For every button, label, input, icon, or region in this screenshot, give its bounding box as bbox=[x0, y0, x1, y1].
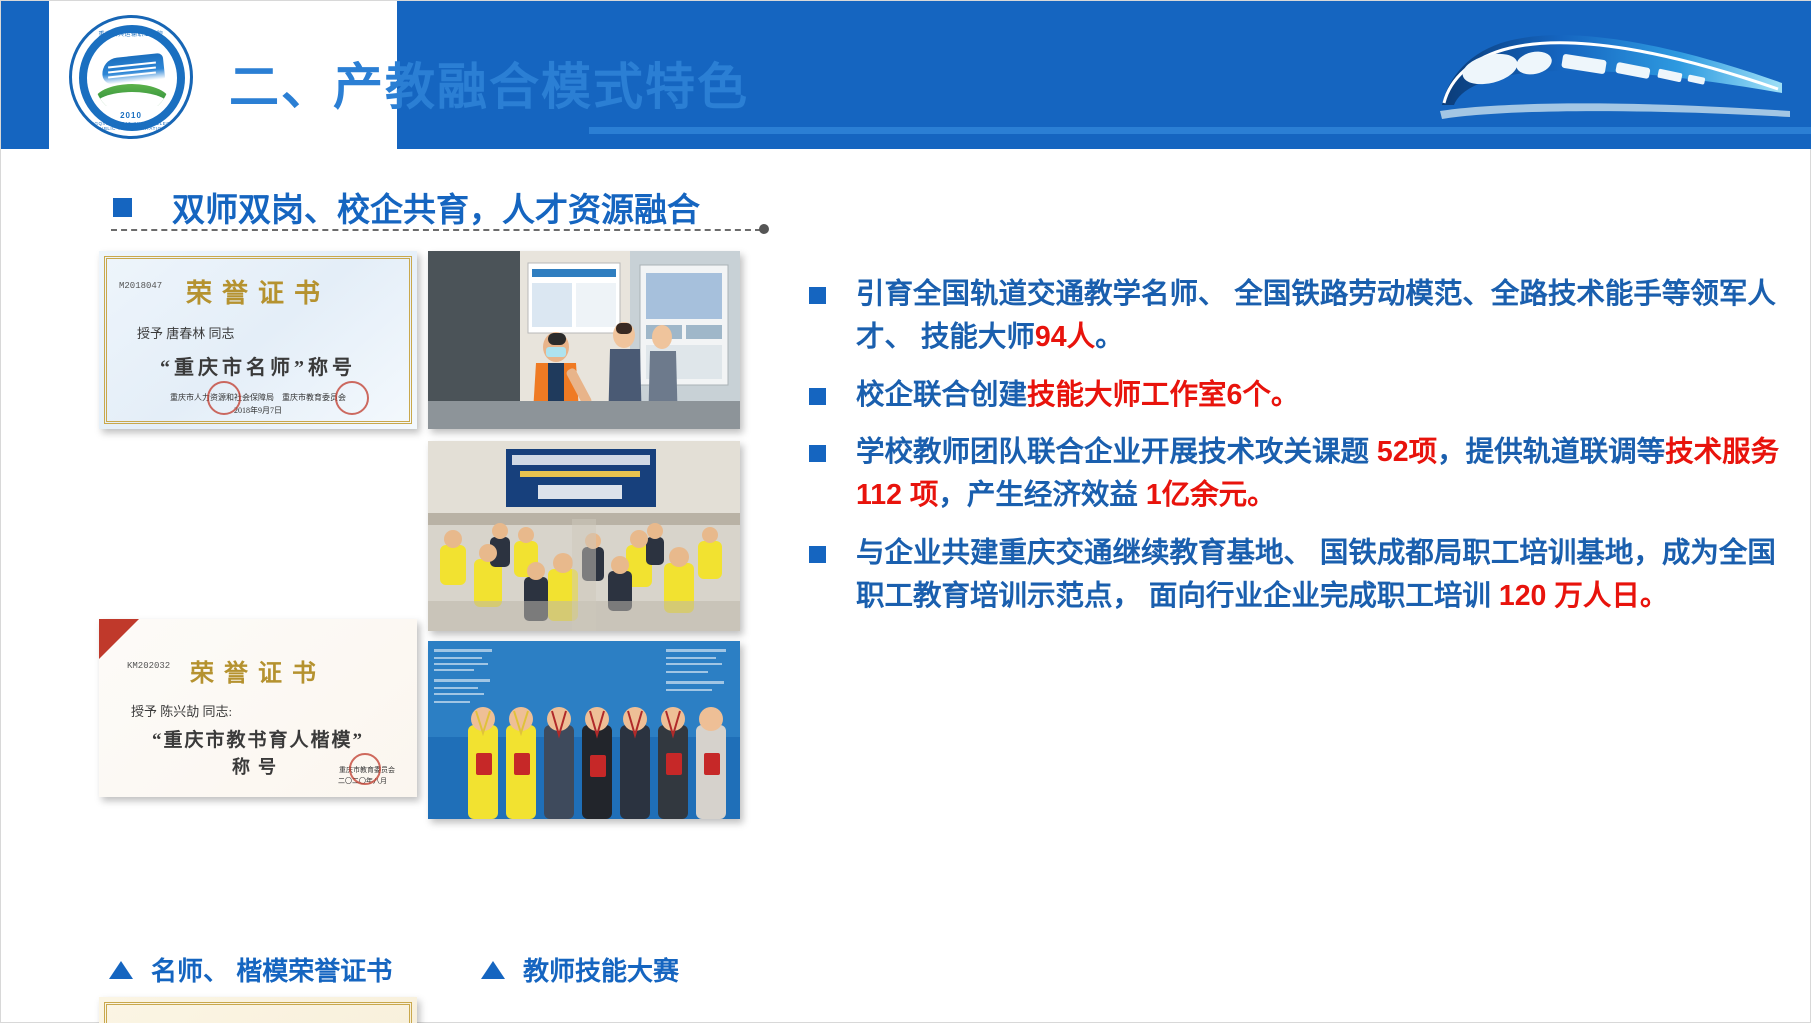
text-run: 学校教师团队联合企业开展技术攻关课题 bbox=[856, 436, 1377, 468]
bullet-text-4: 与企业共建重庆交通继续教育基地、 国铁成都局职工培训基地，成为全国职工教育培训示… bbox=[856, 532, 1794, 619]
caption-certificates: 名师、 楷模荣誉证书 bbox=[109, 951, 392, 988]
caption-certificates-label: 名师、 楷模荣誉证书 bbox=[151, 951, 392, 988]
certificate-recipient: 授予 陈兴劼 同志: bbox=[131, 701, 232, 720]
section-subtitle-row: 双师双岗、校企共育，人才资源融合 bbox=[113, 183, 700, 231]
bullet-item-3: 学校教师团队联合企业开展技术攻关课题 52项，提供轨道联调等技术服务 112 项… bbox=[809, 431, 1794, 518]
certificate-date: 2018年9月7日 bbox=[99, 405, 417, 416]
red-seal-icon bbox=[335, 381, 369, 415]
text-run: 120 万人日。 bbox=[1499, 580, 1668, 612]
page-title: 二、产教融合模式特色 bbox=[229, 47, 749, 119]
certificate-award: “重庆市教书育人楷模” bbox=[99, 725, 417, 752]
text-run: 引育全国轨道交通教学名师、 全国铁路劳动模范、全路技术能手等领军人才、 技能大师 bbox=[856, 278, 1776, 353]
certificate-image-3: 荣 誉 证 书 授予 张 杰 同志 全国技术能手荣誉称号 中华人民共和国人力资源… bbox=[99, 997, 417, 1023]
high-speed-train-icon bbox=[1430, 7, 1800, 127]
triangle-up-icon bbox=[109, 961, 133, 979]
triangle-up-icon bbox=[481, 961, 505, 979]
photo-1-graphic bbox=[428, 251, 740, 429]
logo-inner-disc bbox=[94, 40, 170, 116]
caption-skill-competition: 教师技能大赛 bbox=[481, 951, 679, 988]
square-bullet-icon bbox=[809, 546, 826, 563]
photo-3-graphic bbox=[428, 641, 740, 819]
divider-dashed bbox=[111, 229, 761, 231]
square-bullet-icon bbox=[809, 445, 826, 462]
bullet-text-2: 校企联合创建技能大师工作室6个。 bbox=[856, 374, 1299, 417]
square-bullet-icon bbox=[809, 287, 826, 304]
square-bullet-icon bbox=[113, 198, 132, 217]
train-speed-lines-icon bbox=[108, 64, 156, 76]
text-run: 1亿余元。 bbox=[1146, 479, 1276, 511]
text-run: 。 bbox=[1095, 321, 1124, 353]
bullet-item-2: 校企联合创建技能大师工作室6个。 bbox=[809, 374, 1794, 417]
photo-metro-station-training bbox=[428, 251, 740, 429]
certificate-award: “重庆市名师”称号 bbox=[99, 351, 417, 380]
section-subtitle: 双师双岗、校企共育，人才资源融合 bbox=[172, 183, 700, 231]
red-seal-icon bbox=[349, 753, 381, 785]
text-run: ，提供轨道联调等 bbox=[1437, 436, 1665, 468]
square-bullet-icon bbox=[809, 388, 826, 405]
bullet-text-1: 引育全国轨道交通教学名师、 全国铁路劳动模范、全路技术能手等领军人才、 技能大师… bbox=[856, 273, 1794, 360]
certificate-image-2: KM202032 荣誉证书 授予 陈兴劼 同志: “重庆市教书育人楷模” 称号 … bbox=[99, 619, 417, 797]
certificate-recipient: 授予 唐春林 同志 bbox=[137, 323, 235, 342]
certificate-title: 荣誉证书 bbox=[99, 653, 417, 688]
bullet-list: 引育全国轨道交通教学名师、 全国铁路劳动模范、全路技术能手等领军人才、 技能大师… bbox=[809, 273, 1794, 632]
text-run: 技能大师工作室6个。 bbox=[1027, 379, 1299, 411]
bullet-item-1: 引育全国轨道交通教学名师、 全国铁路劳动模范、全路技术能手等领军人才、 技能大师… bbox=[809, 273, 1794, 360]
college-logo: 重庆公共运输职业学院 2010 CHONGQING VOCATIONAL COL… bbox=[69, 15, 193, 139]
certificate-image-1: M2018047 荣誉证书 授予 唐春林 同志 “重庆市名师”称号 重庆市人力资… bbox=[99, 251, 417, 429]
slide-header: 重庆公共运输职业学院 2010 CHONGQING VOCATIONAL COL… bbox=[1, 1, 1811, 149]
photo-2-graphic bbox=[428, 441, 740, 631]
logo-year: 2010 bbox=[72, 111, 190, 120]
text-run: 校企联合创建 bbox=[856, 379, 1027, 411]
text-run: ，产生经济效益 bbox=[938, 479, 1145, 511]
text-run: 52项 bbox=[1377, 436, 1437, 468]
bullet-text-3: 学校教师团队联合企业开展技术攻关课题 52项，提供轨道联调等技术服务 112 项… bbox=[856, 431, 1794, 518]
header-underline bbox=[589, 127, 1811, 134]
text-run: 94人 bbox=[1035, 321, 1095, 353]
logo-text-top: 重庆公共运输职业学院 bbox=[72, 29, 190, 38]
logo-text-bottom: CHONGQING VOCATIONAL COLLEGE OF PUBLIC T… bbox=[72, 121, 190, 131]
presentation-slide: 重庆公共运输职业学院 2010 CHONGQING VOCATIONAL COL… bbox=[0, 0, 1811, 1023]
photo-award-group bbox=[428, 641, 740, 819]
certificate-issuer: 重庆市人力资源和社会保障局 重庆市教育委员会 bbox=[99, 392, 417, 403]
bullet-item-4: 与企业共建重庆交通继续教育基地、 国铁成都局职工培训基地，成为全国职工教育培训示… bbox=[809, 532, 1794, 619]
red-seal-icon bbox=[207, 381, 241, 415]
caption-skill-competition-label: 教师技能大赛 bbox=[523, 951, 679, 988]
divider-end-dot bbox=[759, 224, 769, 234]
certificate-border bbox=[104, 1002, 412, 1023]
photo-conference-opening bbox=[428, 441, 740, 631]
certificate-title: 荣誉证书 bbox=[99, 273, 417, 310]
